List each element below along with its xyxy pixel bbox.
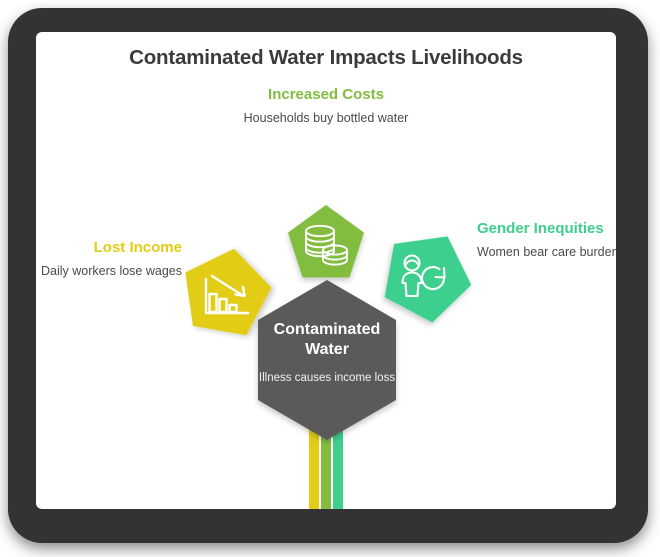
stem-bars <box>309 428 343 509</box>
node-title-increased-costs: Increased Costs <box>236 86 416 104</box>
node-label-lost-income[interactable]: Lost Income Daily workers lose wages <box>36 239 182 279</box>
infographic-diagram: Contaminated Water Illness causes income… <box>36 32 616 509</box>
stem-bar-green <box>321 428 331 509</box>
center-node-description: Illness causes income loss <box>254 371 400 386</box>
device-screen: Contaminated Water Impacts Livelihoods <box>36 32 616 509</box>
node-description-increased-costs: Households buy bottled water <box>236 110 416 126</box>
center-node-title: Contaminated Water <box>254 320 400 359</box>
node-shape-gender-inequities[interactable] <box>370 216 486 330</box>
node-label-gender-inequities[interactable]: Gender Inequities Women bear care burden <box>477 220 616 260</box>
stem-bar-teal <box>333 428 343 509</box>
center-node-text: Contaminated Water Illness causes income… <box>254 320 400 386</box>
stem-bar-yellow <box>309 428 319 509</box>
node-description-lost-income: Daily workers lose wages <box>36 263 182 279</box>
node-title-gender-inequities: Gender Inequities <box>477 220 616 238</box>
node-description-gender-inequities: Women bear care burden <box>477 244 616 260</box>
node-label-increased-costs[interactable]: Increased Costs Households buy bottled w… <box>236 86 416 126</box>
node-title-lost-income: Lost Income <box>36 239 182 257</box>
tablet-device-frame: Contaminated Water Impacts Livelihoods <box>8 8 648 543</box>
